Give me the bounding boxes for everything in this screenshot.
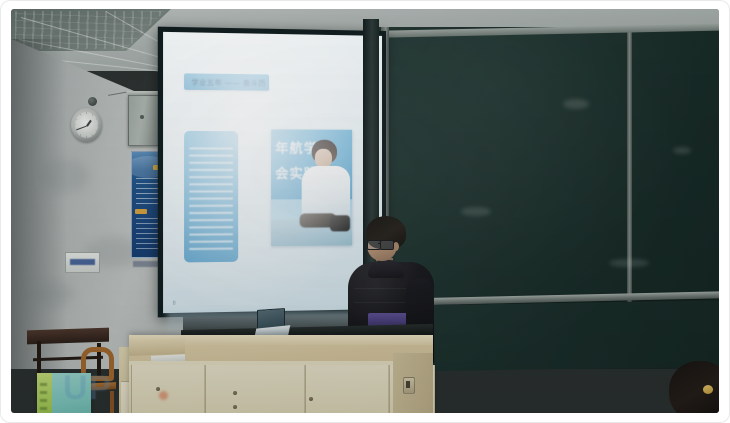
screenshot-root: 学业五年 —— 奋斗历 年航学校 会实践小	[0, 0, 730, 423]
foreground-student	[669, 361, 719, 413]
slide-title-bar: 学业五年 —— 奋斗历	[184, 73, 269, 90]
wall-speaker-box	[128, 95, 159, 146]
glasses-icon	[380, 240, 394, 250]
cabinet-knob-icon	[309, 397, 313, 401]
glasses-icon	[367, 240, 381, 250]
chalk-dust	[609, 259, 649, 267]
podium-cabinet-panel	[305, 365, 389, 413]
left-wall-shadow	[11, 39, 67, 369]
slide-text-box	[184, 131, 238, 263]
poster-badge	[135, 209, 147, 214]
classroom-photo: 学业五年 —— 奋斗历 年航学校 会实践小	[11, 9, 719, 413]
wall-clock-icon	[71, 108, 102, 142]
chalk-dust	[563, 99, 589, 109]
chalk-dust	[673, 147, 691, 154]
power-socket-slot	[406, 381, 410, 388]
cabinet-knob-icon	[156, 387, 160, 391]
wall-smudge	[29, 281, 73, 307]
slide-body-text-lines	[189, 147, 233, 252]
slide-page-number: 8	[173, 301, 176, 307]
glasses-bridge	[378, 243, 381, 244]
chair-leg	[110, 391, 114, 413]
podium-left-wing	[129, 338, 185, 356]
watermark-dot	[159, 391, 168, 400]
podium-cabinet-panel	[131, 365, 205, 413]
slide-inner-photo: 年航学校 会实践小	[271, 129, 352, 246]
presenter-collar	[368, 260, 404, 278]
wall-sign-text	[70, 259, 95, 265]
chalk-dust	[461, 207, 491, 216]
podium-cabinet-panel	[205, 365, 305, 413]
speaker-knob-icon	[140, 115, 144, 119]
student-hair-tie	[703, 385, 713, 394]
tote-bag-printed-text	[40, 383, 47, 411]
small-wall-sign	[65, 252, 100, 273]
wall-sensor-dot-icon	[88, 97, 97, 106]
cabinet-knob-icon	[233, 391, 237, 395]
wall-smudge	[39, 159, 89, 193]
slide-title-text: 学业五年 —— 奋斗历	[191, 78, 265, 89]
photo-frame: 学业五年 —— 奋斗历 年航学校 会实践小	[0, 0, 730, 423]
cabinet-knob-icon	[233, 405, 237, 409]
